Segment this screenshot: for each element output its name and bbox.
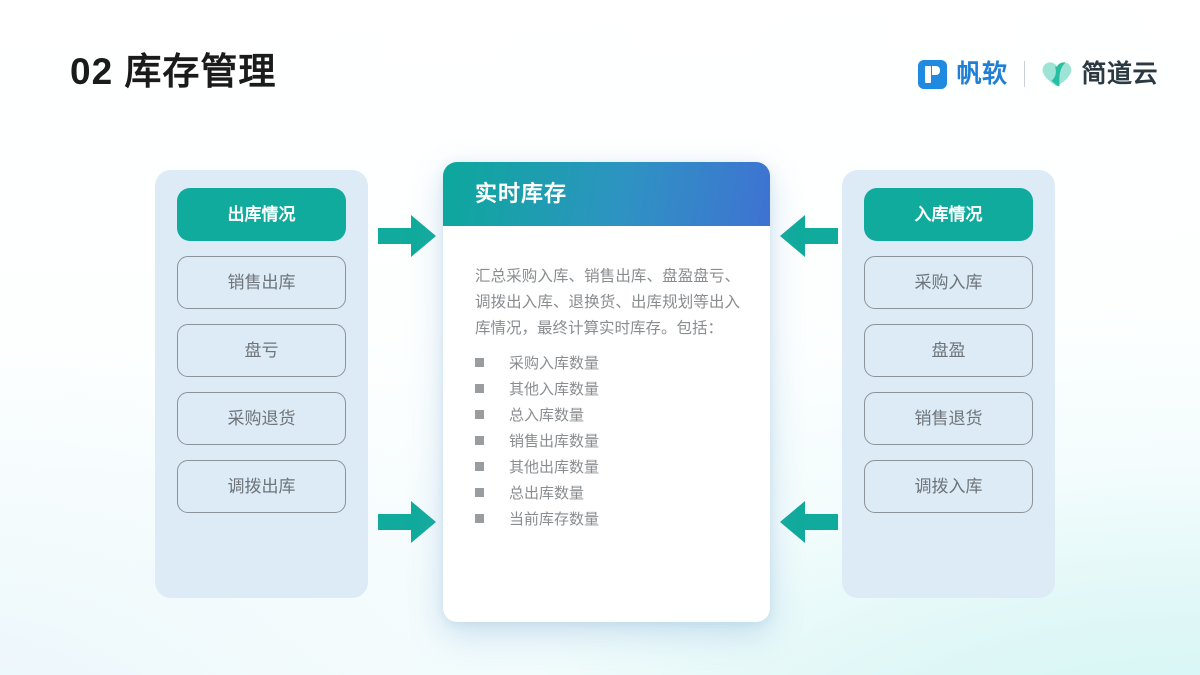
arrow-right-to-center-bottom	[780, 501, 838, 543]
card-title: 实时库存	[475, 183, 567, 205]
card-body: 汇总采购入库、销售出库、盘盈盘亏、调拨出入库、退换货、出库规划等出入库情况，最终…	[443, 226, 770, 622]
list-item-label: 当前库存数量	[509, 508, 599, 529]
list-item: 当前库存数量	[475, 505, 740, 531]
square-bullet-icon	[475, 358, 484, 367]
list-item-label: 采购入库数量	[509, 352, 599, 373]
inbound-panel-header[interactable]: 入库情况	[864, 188, 1033, 241]
inbound-item-transfer-in[interactable]: 调拨入库	[864, 460, 1033, 513]
arrow-left-to-center-top	[378, 215, 436, 257]
list-item: 其他出库数量	[475, 453, 740, 479]
square-bullet-icon	[475, 514, 484, 523]
list-item-label: 总出库数量	[509, 482, 584, 503]
square-bullet-icon	[475, 384, 484, 393]
jiandaoyun-brand-name: 简道云	[1081, 62, 1158, 87]
outbound-item-sales[interactable]: 销售出库	[177, 256, 346, 309]
list-item: 总入库数量	[475, 401, 740, 427]
realtime-inventory-card: 实时库存 汇总采购入库、销售出库、盘盈盘亏、调拨出入库、退换货、出库规划等出入库…	[443, 162, 770, 622]
outbound-panel-header[interactable]: 出库情况	[177, 188, 346, 241]
inbound-item-surplus[interactable]: 盘盈	[864, 324, 1033, 377]
arrow-left-to-center-bottom	[378, 501, 436, 543]
square-bullet-icon	[475, 462, 484, 471]
card-description: 汇总采购入库、销售出库、盘盈盘亏、调拨出入库、退换货、出库规划等出入库情况，最终…	[475, 264, 740, 342]
outbound-panel: 出库情况 销售出库 盘亏 采购退货 调拨出库	[155, 170, 368, 598]
jiandaoyun-logo-icon	[1042, 61, 1072, 88]
square-bullet-icon	[475, 436, 484, 445]
brand-divider	[1024, 61, 1025, 87]
inventory-metrics-list: 采购入库数量 其他入库数量 总入库数量 销售出库数量 其他出库数量 总出库数量 …	[475, 349, 740, 531]
list-item-label: 其他入库数量	[509, 378, 599, 399]
list-item-label: 其他出库数量	[509, 456, 599, 477]
list-item: 总出库数量	[475, 479, 740, 505]
brand-fanruan: 帆软	[918, 60, 1007, 89]
square-bullet-icon	[475, 488, 484, 497]
card-header: 实时库存	[443, 162, 770, 226]
inbound-item-sales-return[interactable]: 销售退货	[864, 392, 1033, 445]
list-item-label: 销售出库数量	[509, 430, 599, 451]
list-item: 销售出库数量	[475, 427, 740, 453]
outbound-item-purchase-return[interactable]: 采购退货	[177, 392, 346, 445]
list-item: 采购入库数量	[475, 349, 740, 375]
list-item: 其他入库数量	[475, 375, 740, 401]
outbound-item-shortage[interactable]: 盘亏	[177, 324, 346, 377]
fanruan-logo-icon	[918, 60, 947, 89]
inbound-item-purchase[interactable]: 采购入库	[864, 256, 1033, 309]
brand-logos: 帆软 简道云	[918, 55, 1158, 93]
fanruan-brand-name: 帆软	[956, 62, 1007, 87]
list-item-label: 总入库数量	[509, 404, 584, 425]
arrow-right-to-center-top	[780, 215, 838, 257]
inbound-panel: 入库情况 采购入库 盘盈 销售退货 调拨入库	[842, 170, 1055, 598]
outbound-item-transfer-out[interactable]: 调拨出库	[177, 460, 346, 513]
square-bullet-icon	[475, 410, 484, 419]
page-title: 02 库存管理	[70, 50, 276, 94]
brand-jiandaoyun: 简道云	[1042, 61, 1158, 88]
